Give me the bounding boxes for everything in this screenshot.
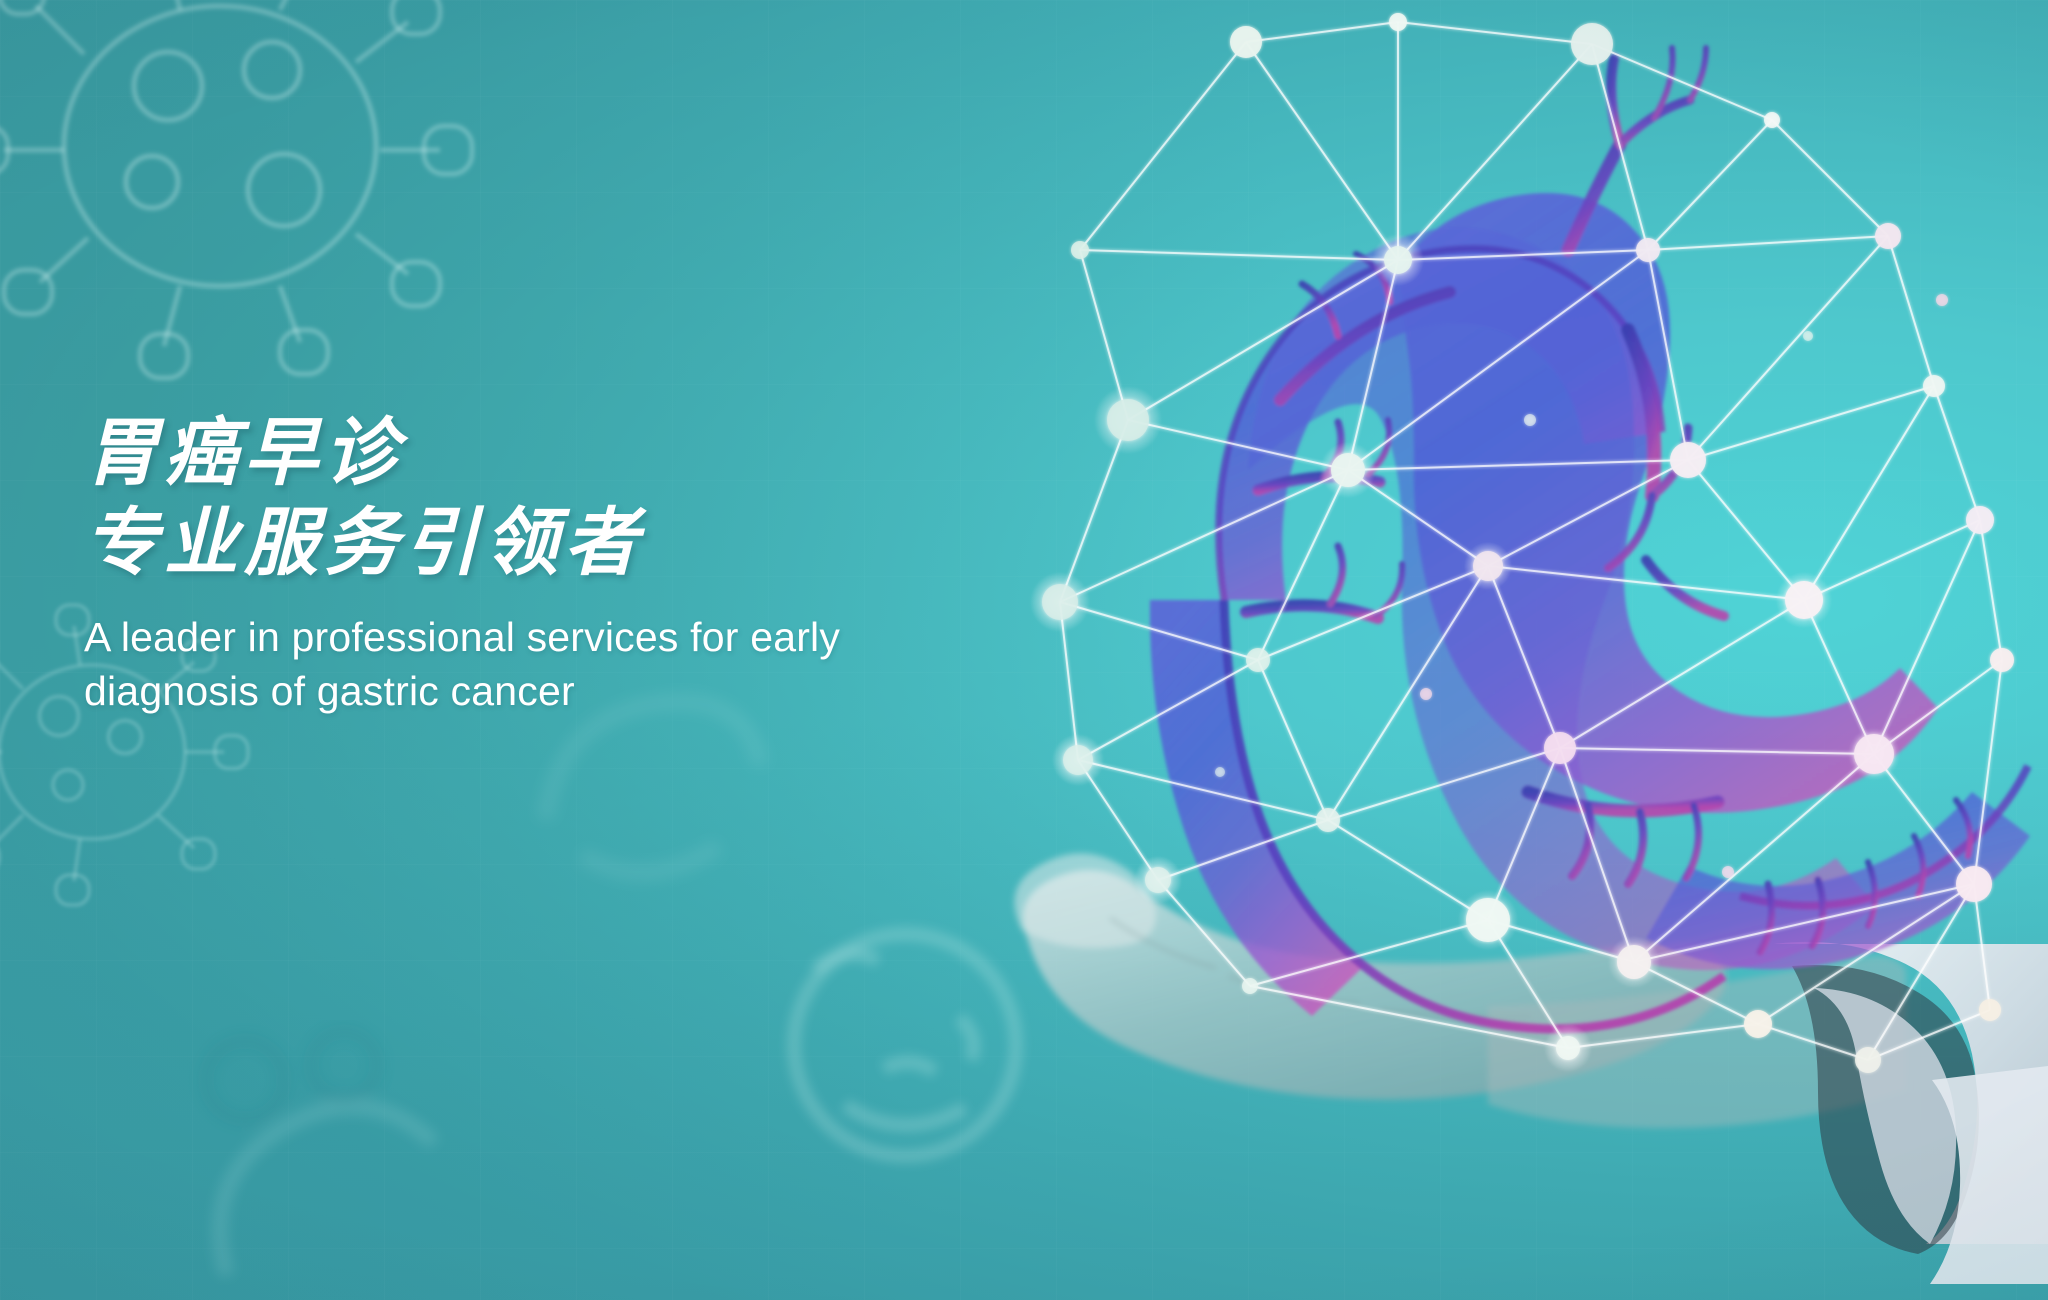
stomach-organ-graphic — [1150, 48, 2030, 1029]
stomach-artwork — [928, 0, 2048, 1300]
subhead: A leader in professional services for ea… — [84, 610, 874, 718]
subhead-line-1: A leader in professional services for ea… — [84, 614, 840, 660]
hero-copy: 胃癌早诊 专业服务引领者 A leader in professional se… — [84, 414, 944, 718]
headline-line-1: 胃癌早诊 — [84, 414, 944, 492]
gastric-cancer-hero-banner: 胃癌早诊 专业服务引领者 A leader in professional se… — [0, 0, 2048, 1300]
subhead-line-2: diagnosis of gastric cancer — [84, 668, 575, 714]
headline-line-2: 专业服务引领者 — [84, 504, 944, 582]
